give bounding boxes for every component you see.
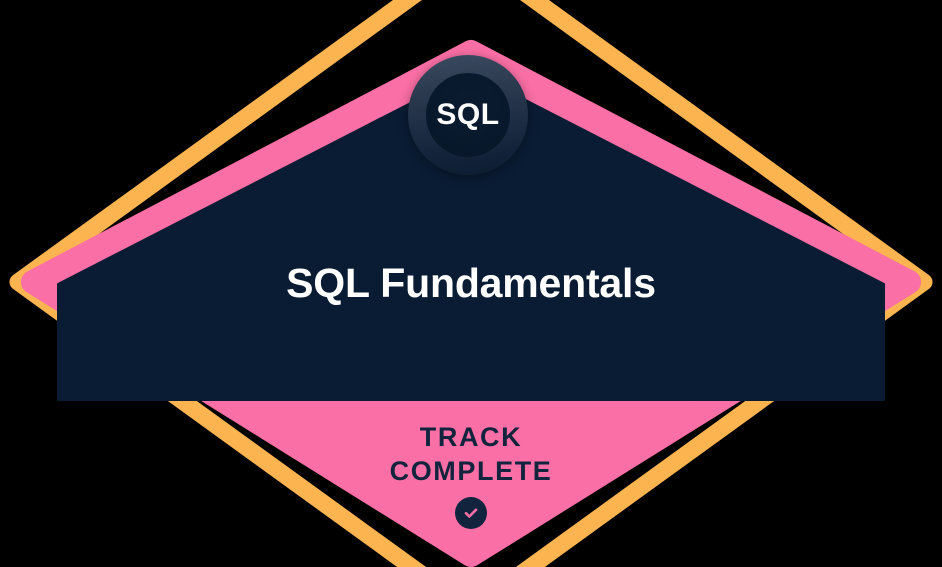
inner-navy-panel (58, 72, 884, 400)
badge-shape-svg (0, 0, 942, 567)
track-completion-badge: SQL SQL Fundamentals TRACK COMPLETE (0, 0, 942, 567)
